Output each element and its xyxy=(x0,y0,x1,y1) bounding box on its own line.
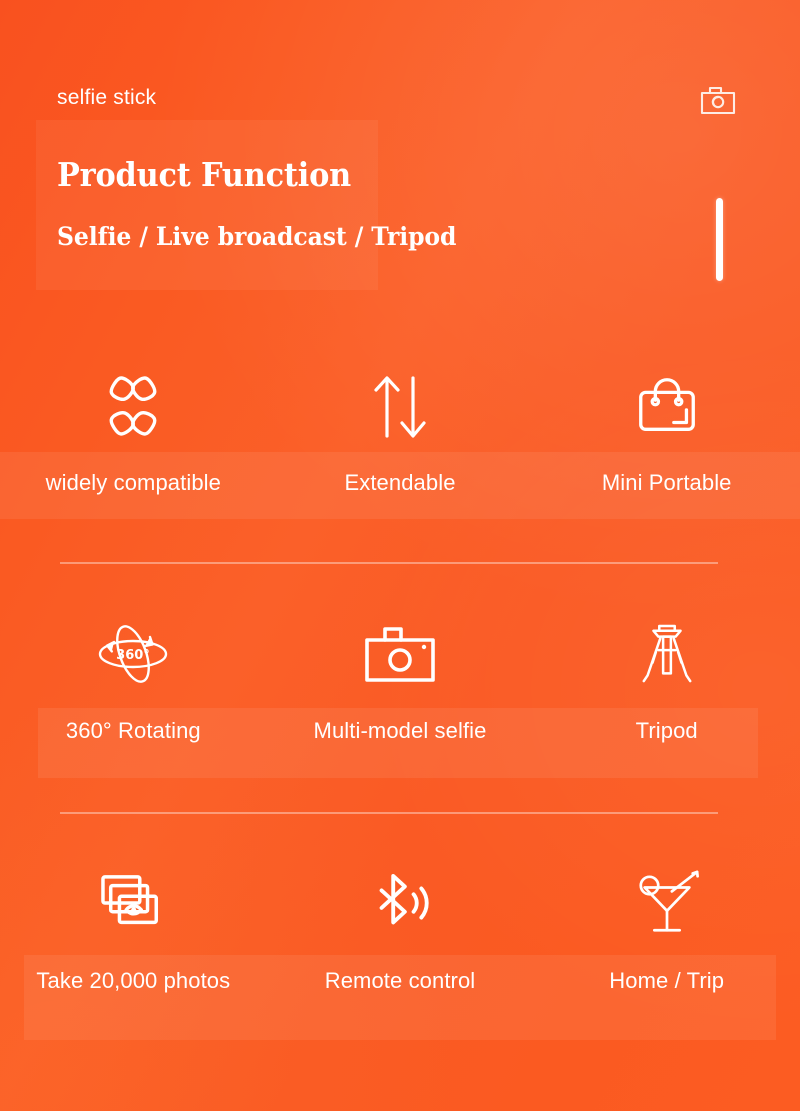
feature-item-360-rotating[interactable]: 360° 360° Rotating xyxy=(0,608,267,778)
breadcrumb: selfie stick xyxy=(57,86,156,110)
feature-label: Mini Portable xyxy=(602,470,732,496)
feature-item-home-trip[interactable]: Home / Trip xyxy=(533,858,800,1028)
feature-label: Home / Trip xyxy=(609,968,724,994)
feature-item-extendable[interactable]: Extendable xyxy=(267,360,534,530)
rotate-360-icon: 360° xyxy=(94,608,172,700)
feature-label: 360° Rotating xyxy=(66,718,201,744)
photo-stack-eye-icon xyxy=(99,858,167,950)
hero-backdrop-plate xyxy=(36,120,378,290)
feature-label: Tripod xyxy=(636,718,698,744)
feature-item-take-photos[interactable]: Take 20,000 photos xyxy=(0,858,267,1028)
feature-label: Extendable xyxy=(344,470,455,496)
four-petal-grid-icon xyxy=(97,360,169,452)
handbag-icon xyxy=(632,360,702,452)
feature-label: Remote control xyxy=(325,968,476,994)
feature-label: widely compatible xyxy=(46,470,221,496)
feature-item-multi-model-selfie[interactable]: Multi-model selfie xyxy=(267,608,534,778)
feature-item-remote-control[interactable]: Remote control xyxy=(267,858,534,1028)
camera-icon xyxy=(363,608,437,700)
feature-label: Multi-model selfie xyxy=(314,718,487,744)
product-feature-page: selfie stick Product Function Selfie / L… xyxy=(0,0,800,1111)
page-title: Product Function xyxy=(57,155,351,194)
svg-text:360°: 360° xyxy=(117,648,151,663)
divider-1 xyxy=(60,562,718,564)
feature-item-widely-compatible[interactable]: widely compatible xyxy=(0,360,267,530)
feature-row-1: widely compatible Extendable xyxy=(0,360,800,530)
feature-row-2: 360° 360° Rotating Multi-model selfie xyxy=(0,608,800,778)
feature-row-3: Take 20,000 photos Remote control xyxy=(0,858,800,1028)
bluetooth-signal-icon xyxy=(368,858,432,950)
vertical-accent-bar xyxy=(716,198,723,281)
tripod-icon xyxy=(638,608,696,700)
camera-icon[interactable] xyxy=(700,85,736,115)
feature-label: Take 20,000 photos xyxy=(36,968,230,994)
divider-2 xyxy=(60,812,718,814)
up-down-arrows-icon xyxy=(369,360,431,452)
feature-item-tripod[interactable]: Tripod xyxy=(533,608,800,778)
feature-item-mini-portable[interactable]: Mini Portable xyxy=(533,360,800,530)
cocktail-glass-icon xyxy=(633,858,701,950)
page-subtitle: Selfie / Live broadcast / Tripod xyxy=(57,222,456,251)
